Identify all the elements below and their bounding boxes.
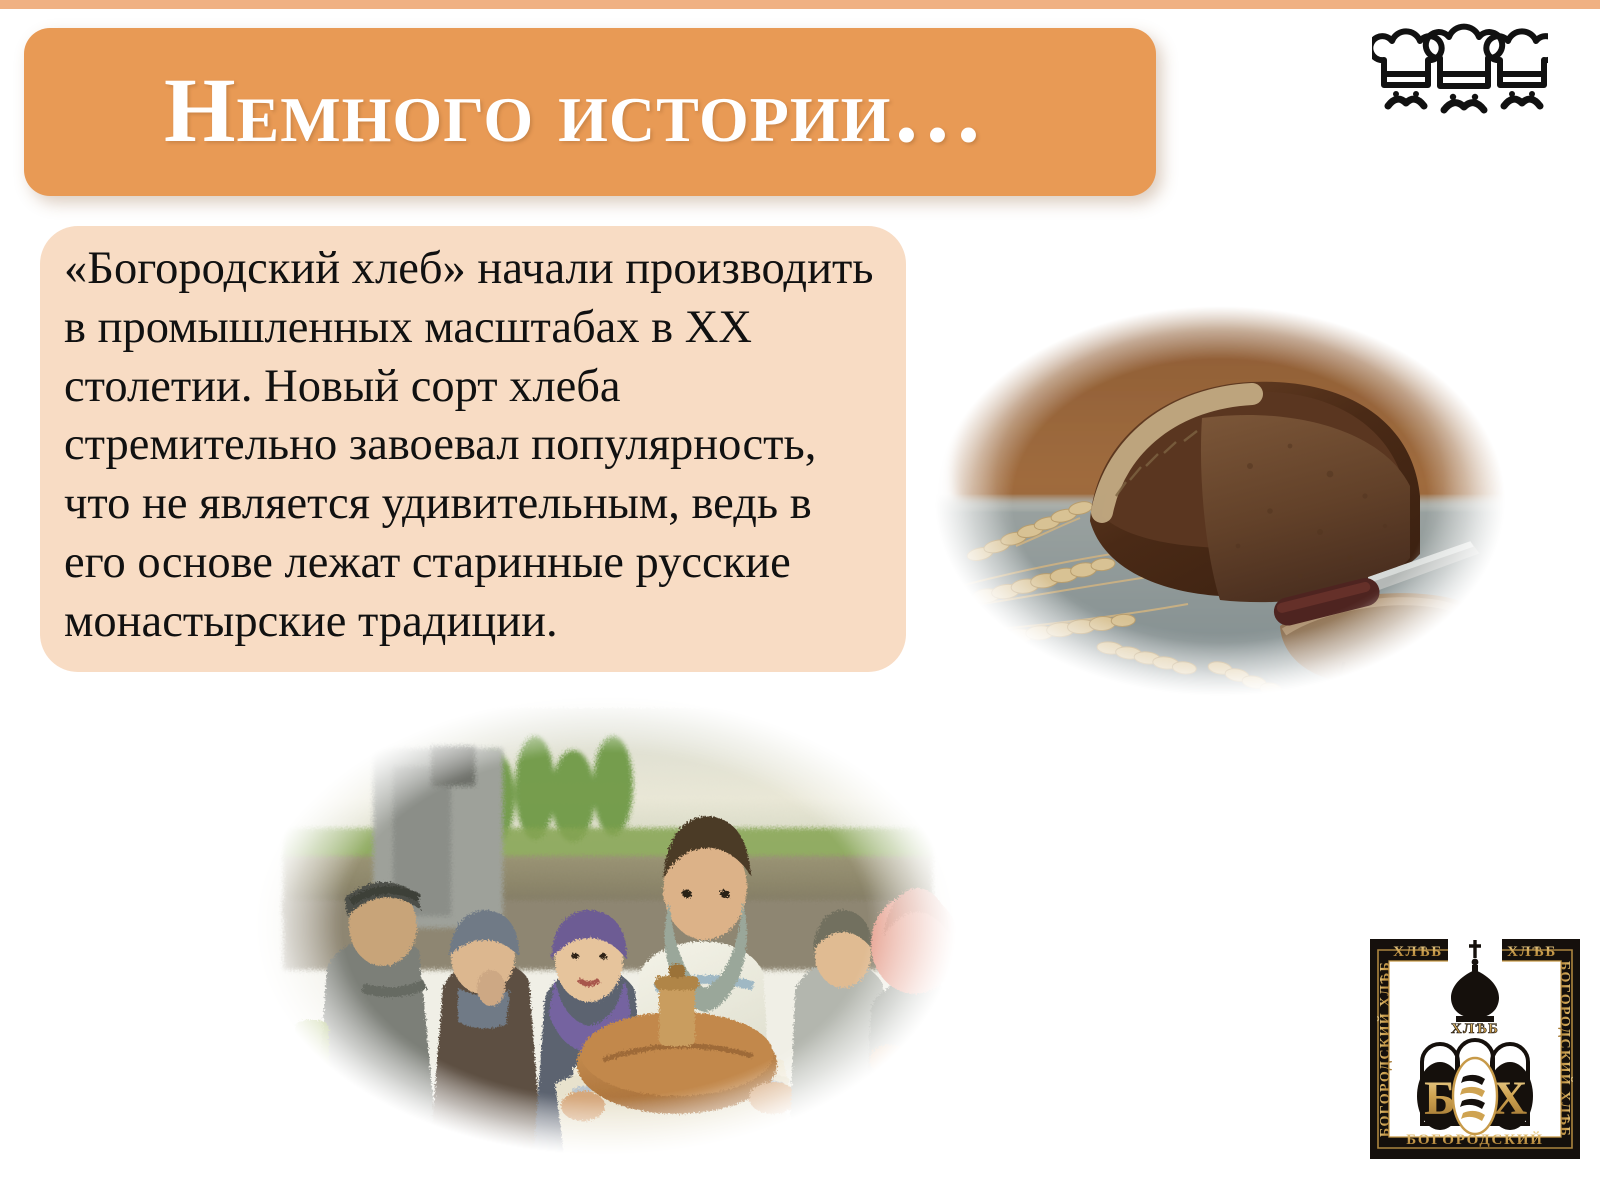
presentation-slide: Немного истории… xyxy=(0,0,1600,1200)
logo-right-text: БОГОРОДСКИЙ ХЛѢБ xyxy=(1557,961,1574,1137)
logo-top-left-text: ХЛѢБ xyxy=(1393,944,1443,960)
body-text-callout: «Богородский хлеб» начали производить в … xyxy=(40,226,906,672)
body-paragraph: «Богородский хлеб» начали производить в … xyxy=(64,240,884,652)
logo-monogram-b: Б xyxy=(1424,1072,1456,1125)
rye-bread-photo xyxy=(920,296,1520,706)
top-accent-strip xyxy=(0,0,1600,9)
peasants-bread-and-salt-painting xyxy=(243,688,967,1162)
chef-hats-icon xyxy=(1372,22,1548,122)
bogorodsky-hleb-logo: ХЛѢБ ХЛѢБ БОГОРОДСКИЙ БОГОРОДСКИЙ ХЛѢБ Б… xyxy=(1370,938,1580,1160)
logo-top-right-text: ХЛѢБ xyxy=(1507,944,1557,960)
logo-dome-text: ХЛѢБ xyxy=(1451,1021,1499,1037)
title-banner: Немного истории… xyxy=(24,28,1156,196)
page-title: Немного истории… xyxy=(164,64,984,156)
logo-left-text: БОГОРОДСКИЙ ХЛѢБ xyxy=(1376,961,1393,1137)
